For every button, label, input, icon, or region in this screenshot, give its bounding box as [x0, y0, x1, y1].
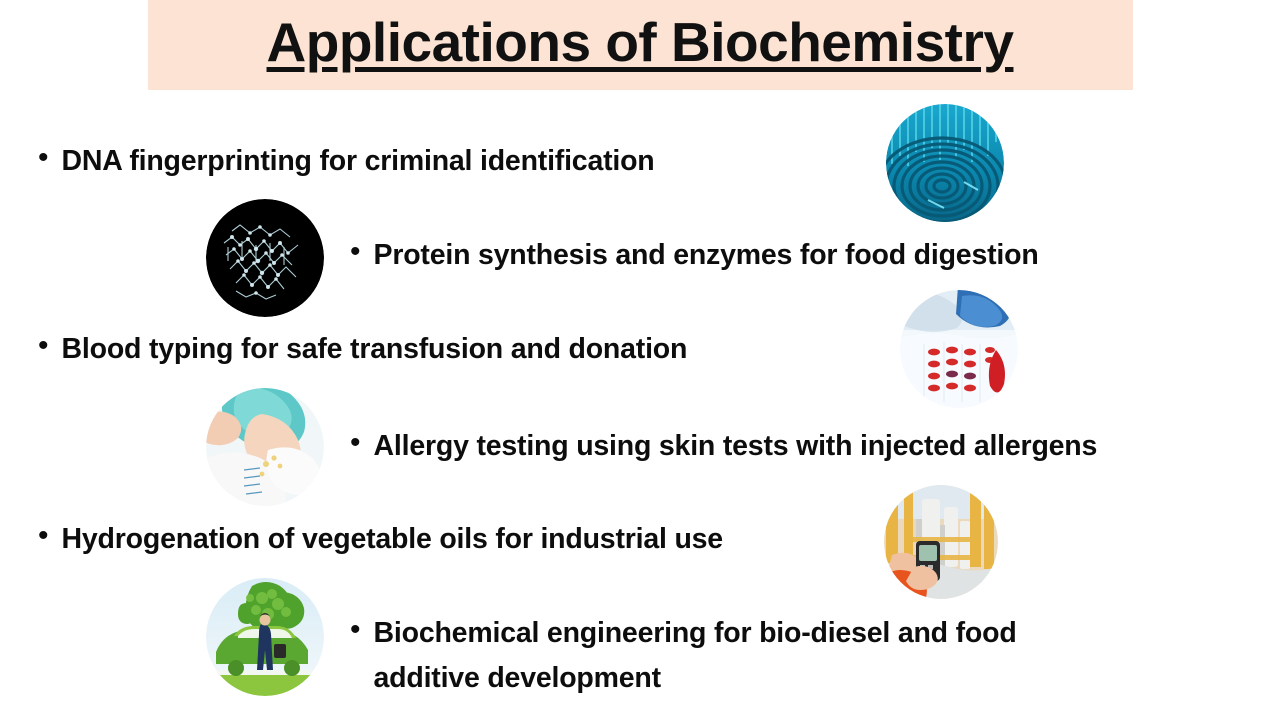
page-title: Applications of Biochemistry [150, 0, 1130, 86]
bullet-text: Blood typing for safe transfusion and do… [62, 327, 688, 372]
protein-molecule-photo [206, 199, 324, 317]
fingerprint-photo [886, 104, 1004, 222]
bullet-item-protein-synthesis: • Protein synthesis and enzymes for food… [350, 233, 1039, 278]
bullet-dot-icon: • [38, 139, 49, 177]
bullet-item-biochemical-engineering: • Biochemical engineering for bio-diesel… [350, 611, 1017, 701]
bullet-item-blood-typing: • Blood typing for safe transfusion and … [38, 327, 687, 372]
bullet-text: Biochemical engineering for bio-diesel a… [374, 611, 1017, 701]
bullet-text: DNA fingerprinting for criminal identifi… [62, 139, 655, 184]
bullet-text: Hydrogenation of vegetable oils for indu… [62, 517, 723, 562]
bullet-dot-icon: • [38, 517, 49, 555]
eco-biodiesel-photo [206, 578, 324, 696]
blood-typing-photo [900, 290, 1018, 408]
bullet-item-allergy-testing: • Allergy testing using skin tests with … [350, 424, 1097, 469]
bullet-text: Protein synthesis and enzymes for food d… [374, 233, 1039, 278]
allergy-skin-test-photo [206, 388, 324, 506]
bullet-item-dna-fingerprinting: • DNA fingerprinting for criminal identi… [38, 139, 655, 184]
bullet-dot-icon: • [38, 327, 49, 365]
bullet-dot-icon: • [350, 611, 361, 649]
bullet-item-hydrogenation: • Hydrogenation of vegetable oils for in… [38, 517, 723, 562]
bullet-text: Allergy testing using skin tests with in… [374, 424, 1098, 469]
bullet-dot-icon: • [350, 424, 361, 462]
industrial-plant-photo [884, 485, 998, 599]
bullet-dot-icon: • [350, 233, 361, 271]
